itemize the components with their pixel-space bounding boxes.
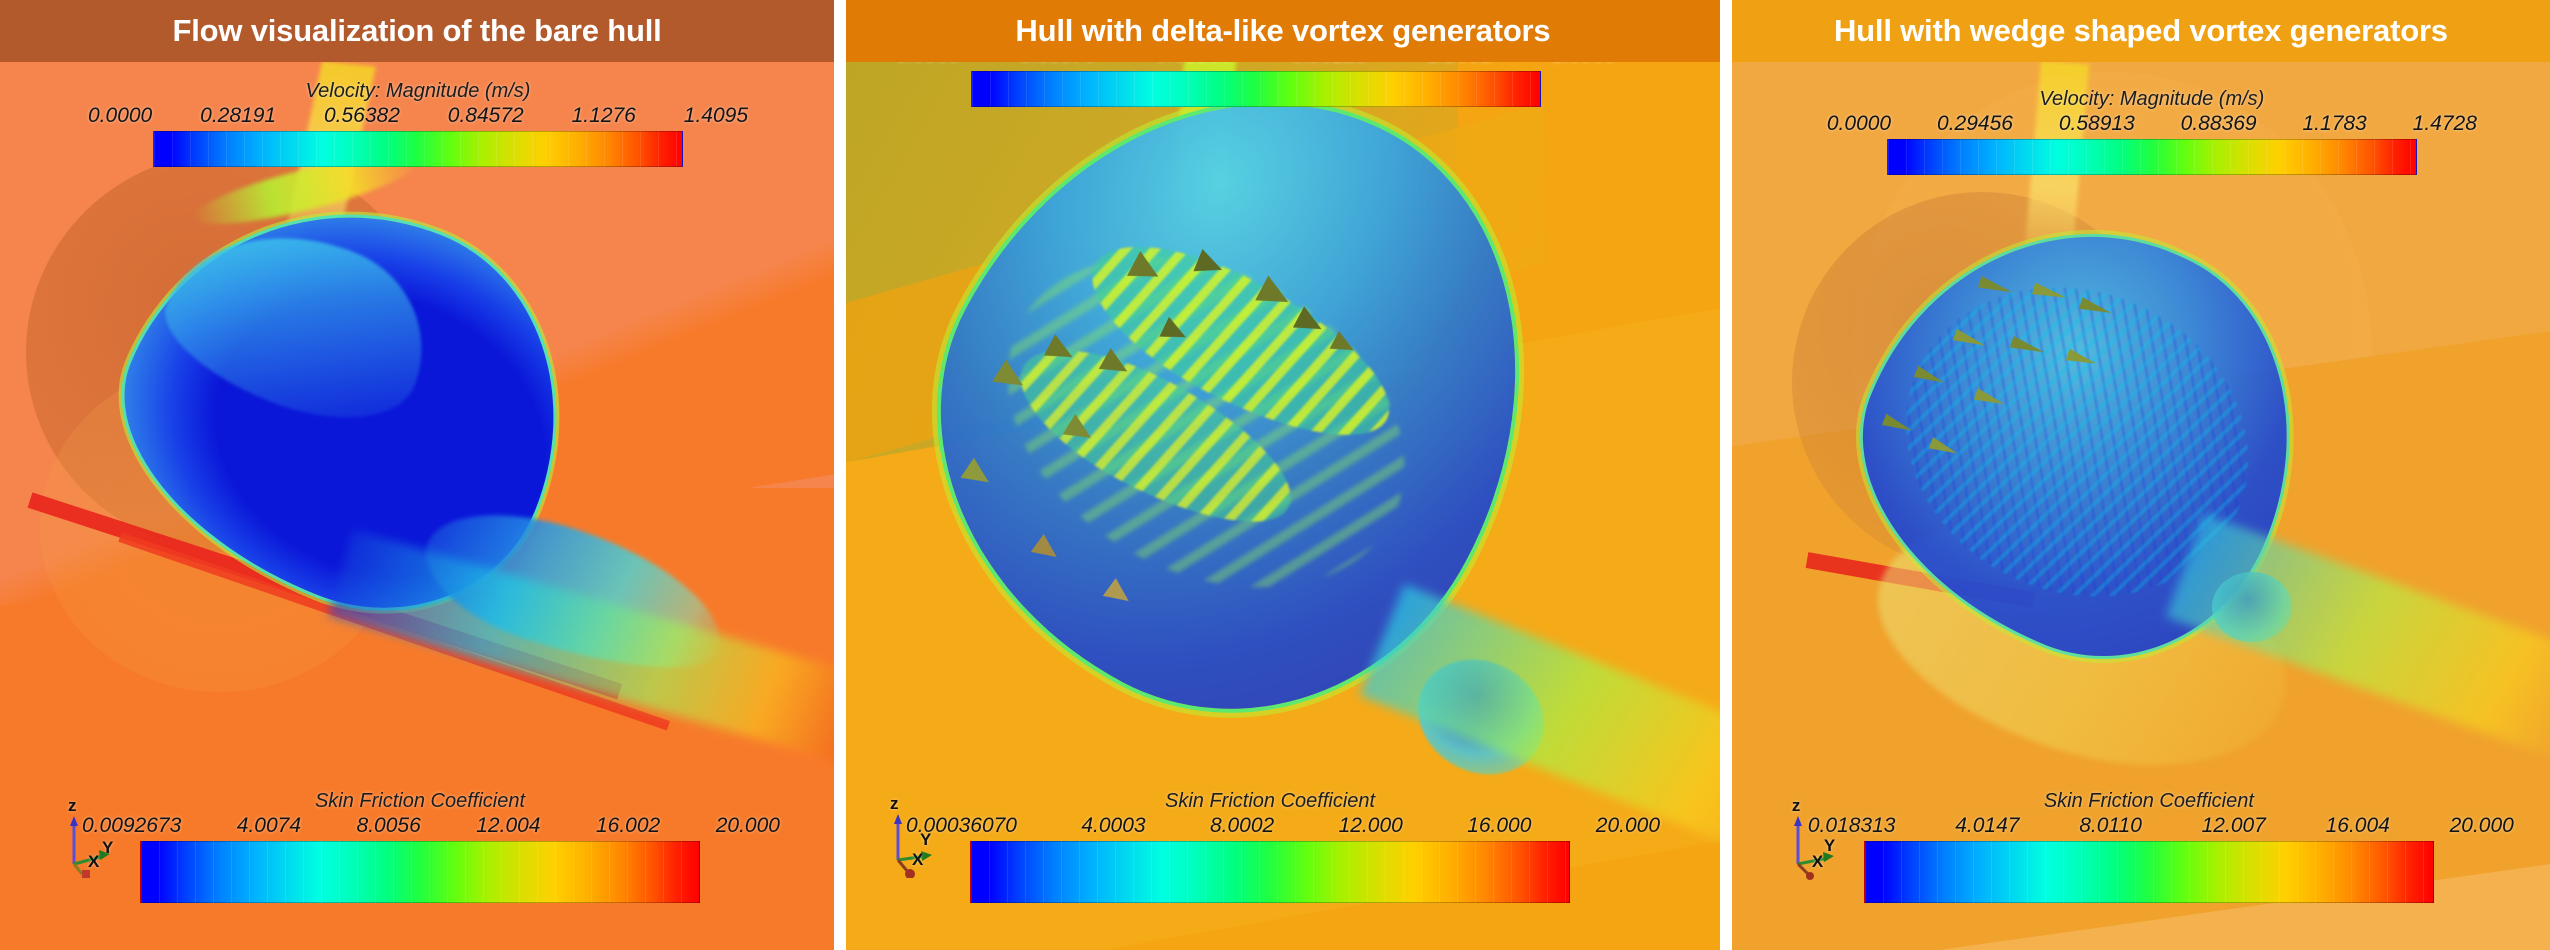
skin-friction-colorbar-title: Skin Friction Coefficient (60, 790, 780, 813)
axis-label-z: z (890, 794, 899, 814)
skin-friction-tick-3: 12.004 (476, 814, 540, 838)
skin-friction-tick-2: 8.0110 (2079, 814, 2142, 838)
velocity-colorbar-ticks: 0.0000 0.28191 0.56382 0.84572 1.1276 1.… (88, 104, 748, 128)
velocity-tick-2: 0.56382 (324, 104, 400, 128)
skin-friction-colorbar-gradient (1864, 841, 2434, 903)
skin-friction-colorbar-title: Skin Friction Coefficient (1784, 790, 2514, 813)
axis-label-z: z (68, 796, 77, 816)
velocity-colorbar[interactable]: Velocity: Magnitude (m/s) 0.0000 0.29456… (1827, 88, 2477, 175)
velocity-colorbar-ticks: 0.0000 0.29456 0.58913 0.88369 1.1783 1.… (1827, 112, 2477, 136)
axis-label-y: Y (1824, 836, 1835, 856)
skin-friction-tick-1: 4.0074 (237, 814, 301, 838)
axis-label-x: X (1812, 852, 1823, 872)
velocity-tick-0: 0.0000 (88, 104, 152, 128)
velocity-tick-4: 1.1783 (2303, 112, 2367, 136)
skin-friction-colorbar-gradient (140, 841, 700, 903)
orientation-axes-triad[interactable]: z Y X (52, 808, 122, 880)
cfd-comparison-figure: Flow visualization of the bare hull Velo… (0, 0, 2550, 950)
skin-friction-colorbar-gradient (970, 841, 1570, 903)
axis-label-x: X (88, 852, 99, 872)
panel-title-bar: Hull with wedge shaped vortex generators (1732, 0, 2550, 62)
skin-friction-colorbar-ticks: 0.018313 4.0147 8.0110 12.007 16.004 20.… (1784, 814, 2514, 838)
velocity-colorbar-gradient (153, 131, 683, 167)
velocity-tick-4: 1.1276 (572, 104, 636, 128)
velocity-colorbar-gradient (1887, 139, 2417, 175)
velocity-colorbar-title: Velocity: Magnitude (m/s) (88, 80, 748, 103)
panel-delta-vortex-generators: Hull with delta-like vortex generators (846, 0, 1720, 950)
skin-friction-tick-4: 16.004 (2326, 814, 2390, 838)
skin-friction-tick-5: 20.000 (1596, 814, 1660, 838)
orientation-axes-triad[interactable]: z Y X (874, 806, 944, 878)
skin-friction-tick-3: 12.000 (1339, 814, 1403, 838)
panel-bare-hull: Flow visualization of the bare hull Velo… (0, 0, 834, 950)
velocity-colorbar-title: Velocity: Magnitude (m/s) (1827, 88, 2477, 111)
panel-title: Flow visualization of the bare hull (172, 13, 661, 49)
panel-divider-1 (834, 0, 846, 950)
skin-friction-colorbar[interactable]: Skin Friction Coefficient 0.00036070 4.0… (880, 790, 1660, 903)
panel-title-bar: Flow visualization of the bare hull (0, 0, 834, 62)
skin-friction-tick-1: 4.0003 (1081, 814, 1145, 838)
velocity-tick-1: 0.28191 (200, 104, 276, 128)
panel-divider-2 (1720, 0, 1732, 950)
skin-friction-tick-4: 16.002 (596, 814, 660, 838)
panel-title: Hull with delta-like vortex generators (1015, 13, 1550, 49)
velocity-colorbar-gradient (971, 71, 1541, 107)
skin-friction-tick-5: 20.000 (716, 814, 780, 838)
panel-wedge-vortex-generators: Hull with wedge shaped vortex generators (1732, 0, 2550, 950)
axis-label-y: Y (102, 838, 113, 858)
skin-friction-tick-5: 20.000 (2450, 814, 2514, 838)
velocity-tick-5: 1.4095 (684, 104, 748, 128)
axis-label-y: Y (920, 830, 931, 850)
orientation-axes-triad[interactable]: z Y X (1776, 808, 1846, 880)
skin-friction-tick-4: 16.000 (1467, 814, 1531, 838)
velocity-tick-2: 0.58913 (2059, 112, 2135, 136)
skin-friction-tick-1: 4.0147 (1955, 814, 2019, 838)
velocity-tick-3: 0.84572 (448, 104, 524, 128)
velocity-colorbar[interactable]: Velocity: Magnitude (m/s) 0.0000 0.28191… (88, 80, 748, 167)
velocity-tick-1: 0.29456 (1937, 112, 2013, 136)
skin-friction-colorbar-ticks: 0.00036070 4.0003 8.0002 12.000 16.000 2… (880, 814, 1660, 838)
skin-friction-colorbar-ticks: 0.0092673 4.0074 8.0056 12.004 16.002 20… (60, 814, 780, 838)
velocity-tick-3: 0.88369 (2181, 112, 2257, 136)
axis-label-x: X (912, 850, 923, 870)
skin-friction-colorbar[interactable]: Skin Friction Coefficient 0.018313 4.014… (1784, 790, 2514, 903)
axis-label-z: z (1792, 796, 1801, 816)
skin-friction-tick-3: 12.007 (2202, 814, 2266, 838)
panel-title-bar: Hull with delta-like vortex generators (846, 0, 1720, 62)
axes-triad-icon (1776, 808, 1846, 880)
skin-friction-tick-2: 8.0002 (1210, 814, 1274, 838)
skin-friction-colorbar[interactable]: Skin Friction Coefficient 0.0092673 4.00… (60, 790, 780, 903)
axes-triad-icon (874, 806, 944, 878)
panel-title: Hull with wedge shaped vortex generators (1834, 13, 2448, 49)
velocity-tick-5: 1.4728 (2413, 112, 2477, 136)
skin-friction-colorbar-title: Skin Friction Coefficient (880, 790, 1660, 813)
skin-friction-tick-2: 8.0056 (357, 814, 421, 838)
velocity-tick-0: 0.0000 (1827, 112, 1891, 136)
